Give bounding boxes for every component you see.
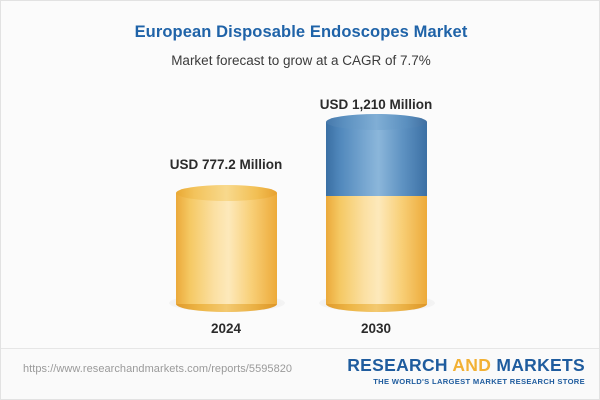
bar-2030-growth-segment[interactable] — [326, 122, 427, 196]
bar-2030-base-body — [326, 196, 427, 304]
report-url[interactable]: https://www.researchandmarkets.com/repor… — [23, 363, 292, 375]
plot-area: USD 777.2 Million 2024 USD 1,210 Million… — [1, 1, 600, 349]
logo-wordmark: RESEARCH AND MARKETS — [347, 355, 585, 375]
logo-word-markets: MARKETS — [496, 355, 585, 375]
bar-2024-top-ellipse — [176, 185, 277, 201]
category-label-2030: 2030 — [296, 321, 456, 336]
research-and-markets-logo[interactable]: RESEARCH AND MARKETS THE WORLD'S LARGEST… — [347, 355, 585, 386]
category-label-2024: 2024 — [146, 321, 306, 336]
logo-word-research: RESEARCH — [347, 355, 448, 375]
chart-card: European Disposable Endoscopes Market Ma… — [0, 0, 600, 400]
bar-2024-base-body — [176, 193, 277, 304]
bar-2030-top-ellipse — [326, 114, 427, 130]
bar-2024[interactable] — [176, 193, 277, 304]
bar-2030-growth-body — [326, 122, 427, 196]
logo-word-and: AND — [452, 355, 491, 375]
bar-value-label-2024: USD 777.2 Million — [116, 157, 336, 172]
logo-tagline: THE WORLD'S LARGEST MARKET RESEARCH STOR… — [347, 377, 585, 386]
bar-2030-base-segment[interactable] — [326, 196, 427, 304]
bar-value-label-2030: USD 1,210 Million — [266, 97, 486, 112]
footer: https://www.researchandmarkets.com/repor… — [1, 349, 600, 400]
